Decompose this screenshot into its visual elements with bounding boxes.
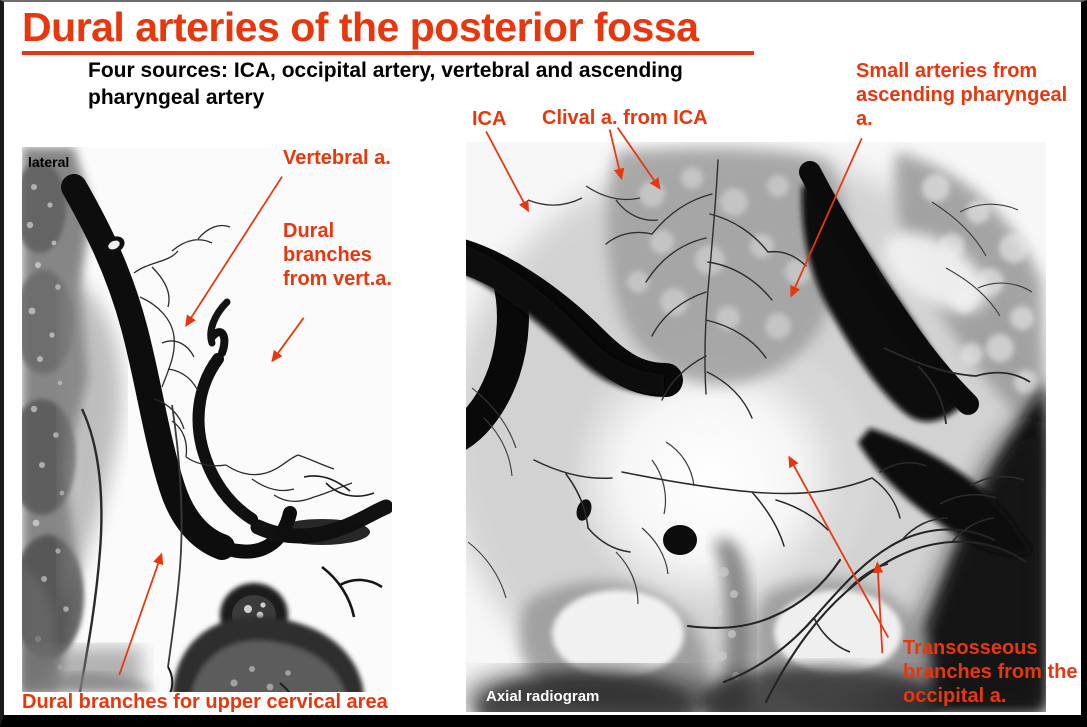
annotation-vertebral-artery: Vertebral a. — [283, 146, 398, 170]
slide: Dural arteries of the posterior fossa Fo… — [0, 0, 1087, 727]
slide-subtitle: Four sources: ICA, occipital artery, ver… — [88, 57, 788, 111]
annotation-transosseous-branches: Transosseous branches from the occipital… — [903, 636, 1087, 708]
axial-image-caption: Axial radiogram — [486, 688, 599, 706]
axial-radiogram-image — [466, 142, 1046, 712]
page-title: Dural arteries of the posterior fossa — [22, 4, 782, 50]
annotation-ascending-pharyngeal: Small arteries from ascending pharyngeal… — [856, 59, 1081, 131]
annotation-clival-artery: Clival a. from ICA — [542, 106, 708, 130]
lateral-image-caption: lateral — [28, 154, 69, 171]
title-underline-rule — [22, 51, 754, 55]
annotation-ica: ICA — [472, 107, 506, 131]
slide-title-block: Dural arteries of the posterior fossa — [22, 4, 782, 55]
axial-radiogram-graphic — [466, 142, 1046, 712]
slide-canvas: Dural arteries of the posterior fossa Fo… — [4, 2, 1081, 715]
annotation-dural-branches-vertebral: Dural branches from vert.a. — [283, 219, 395, 291]
annotation-dural-branches-cervical: Dural branches for upper cervical area — [22, 690, 388, 714]
